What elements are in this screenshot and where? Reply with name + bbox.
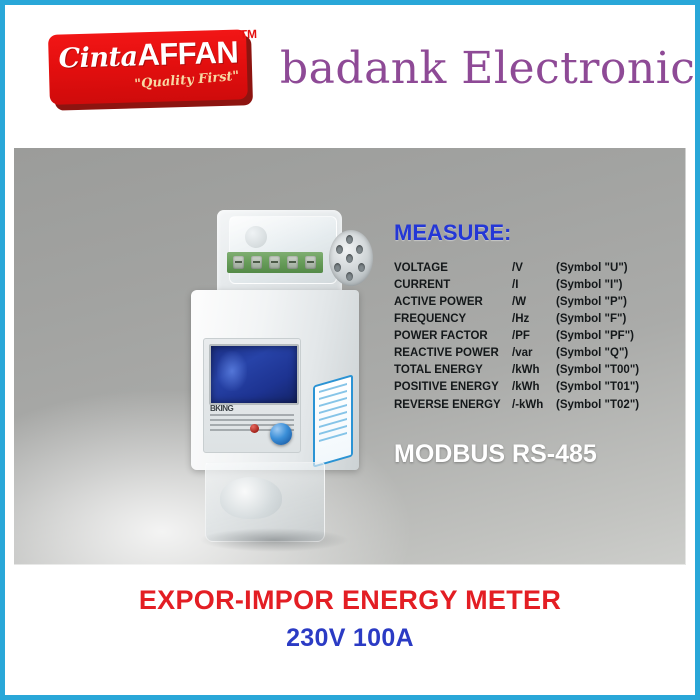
table-row: POWER FACTOR /PF (Symbol "PF") bbox=[394, 330, 666, 347]
footer-caption: EXPOR-IMPOR ENERGY METER 230V 100A bbox=[5, 585, 695, 653]
meter-pulse-led-icon bbox=[250, 424, 259, 433]
table-row: REACTIVE POWER /var (Symbol "Q") bbox=[394, 347, 666, 364]
measure-symbol: (Symbol "U") bbox=[556, 262, 666, 279]
measure-unit: /-kWh bbox=[512, 399, 556, 416]
measure-symbol: (Symbol "T01") bbox=[556, 381, 666, 398]
shop-name: badank Electronic bbox=[280, 43, 695, 94]
measure-unit: /kWh bbox=[512, 364, 556, 381]
table-row: FREQUENCY /Hz (Symbol "F") bbox=[394, 313, 666, 330]
table-row: VOLTAGE /V (Symbol "U") bbox=[394, 262, 666, 279]
measure-name: CURRENT bbox=[394, 279, 512, 296]
measure-unit: /var bbox=[512, 347, 556, 364]
measure-heading: MEASURE: bbox=[394, 220, 674, 246]
table-row: ACTIVE POWER /W (Symbol "P") bbox=[394, 296, 666, 313]
measure-name: FREQUENCY bbox=[394, 313, 512, 330]
table-row: REVERSE ENERGY /-kWh (Symbol "T02") bbox=[394, 399, 666, 416]
meter-faceplate: BKING bbox=[203, 338, 301, 453]
meter-lcd-display bbox=[209, 344, 299, 405]
trademark-icon: TM bbox=[240, 27, 258, 41]
measure-unit: /I bbox=[512, 279, 556, 296]
meter-vent-disc-icon bbox=[329, 230, 373, 286]
measure-name: TOTAL ENERGY bbox=[394, 364, 512, 381]
measure-symbol: (Symbol "P") bbox=[556, 296, 666, 313]
measure-unit: /kWh bbox=[512, 381, 556, 398]
meter-terminal-cover bbox=[229, 216, 337, 284]
brand-logo: CintaAFFAN "Quality First" TM bbox=[48, 29, 253, 110]
measure-name: POWER FACTOR bbox=[394, 330, 512, 347]
spec-block: MEASURE: VOLTAGE /V (Symbol "U") CURRENT… bbox=[394, 220, 674, 469]
measure-symbol: (Symbol "I") bbox=[556, 279, 666, 296]
measure-unit: /PF bbox=[512, 330, 556, 347]
header-band: CintaAFFAN "Quality First" TM badank Ele… bbox=[5, 5, 695, 140]
meter-drop-shadow bbox=[199, 528, 349, 552]
measure-name: POSITIVE ENERGY bbox=[394, 381, 512, 398]
table-row: CURRENT /I (Symbol "I") bbox=[394, 279, 666, 296]
lcd-backlight-glow bbox=[217, 351, 247, 391]
product-listing-image: CintaAFFAN "Quality First" TM badank Ele… bbox=[0, 0, 700, 700]
meter-bottom-terminal bbox=[220, 477, 282, 519]
meter-seal-icon bbox=[245, 226, 267, 248]
meter-faceplate-brand: BKING bbox=[210, 404, 233, 413]
measure-name: ACTIVE POWER bbox=[394, 296, 512, 313]
product-title: EXPOR-IMPOR ENERGY METER bbox=[5, 585, 695, 616]
product-photo: BKING MEASURE: bbox=[14, 148, 686, 565]
measure-name: REACTIVE POWER bbox=[394, 347, 512, 364]
measure-name: REVERSE ENERGY bbox=[394, 399, 512, 416]
protocol-label: MODBUS RS-485 bbox=[394, 440, 674, 469]
measure-symbol: (Symbol "F") bbox=[556, 313, 666, 330]
product-rating: 230V 100A bbox=[5, 624, 695, 653]
meter-terminal-block bbox=[227, 252, 323, 273]
measure-unit: /W bbox=[512, 296, 556, 313]
meter-side-label bbox=[313, 374, 353, 467]
measure-symbol: (Symbol "T00") bbox=[556, 364, 666, 381]
meter-body: BKING bbox=[191, 290, 359, 470]
logo-word-bold: AFFAN bbox=[137, 35, 239, 73]
logo-word-script: Cinta bbox=[58, 41, 138, 74]
meter-display-button bbox=[270, 423, 292, 445]
measure-symbol: (Symbol "PF") bbox=[556, 330, 666, 347]
measure-name: VOLTAGE bbox=[394, 262, 512, 279]
measure-table: VOLTAGE /V (Symbol "U") CURRENT /I (Symb… bbox=[394, 262, 666, 416]
table-row: POSITIVE ENERGY /kWh (Symbol "T01") bbox=[394, 381, 666, 398]
logo-wordmark: CintaAFFAN bbox=[58, 35, 237, 76]
energy-meter-device: BKING bbox=[189, 210, 389, 550]
measure-symbol: (Symbol "Q") bbox=[556, 347, 666, 364]
measure-symbol: (Symbol "T02") bbox=[556, 399, 666, 416]
measure-unit: /V bbox=[512, 262, 556, 279]
measure-unit: /Hz bbox=[512, 313, 556, 330]
table-row: TOTAL ENERGY /kWh (Symbol "T00") bbox=[394, 364, 666, 381]
